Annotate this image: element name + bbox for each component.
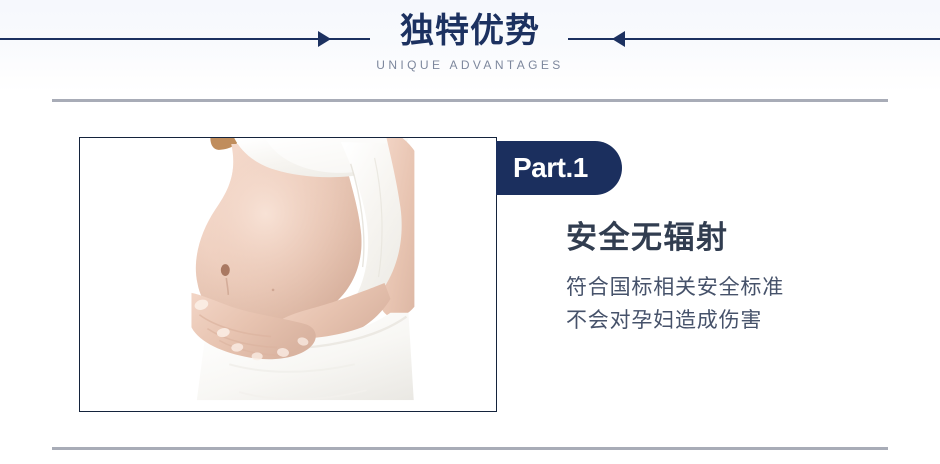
section-divider-top — [52, 99, 888, 102]
page-subtitle: UNIQUE ADVANTAGES — [0, 57, 940, 73]
page-title: 独特优势 — [0, 10, 940, 52]
feature-heading: 安全无辐射 — [566, 218, 906, 258]
section-heading-group: 独特优势 UNIQUE ADVANTAGES — [0, 10, 940, 73]
feature-description-line: 不会对孕妇造成伤害 — [566, 304, 906, 337]
feature-description-line: 符合国标相关安全标准 — [566, 271, 906, 304]
pregnant-woman-photo — [80, 138, 496, 411]
feature-copy-block: 安全无辐射 符合国标相关安全标准 不会对孕妇造成伤害 — [566, 218, 906, 337]
part-number-badge: Part.1 — [496, 141, 622, 195]
advantage-section: 独特优势 UNIQUE ADVANTAGES — [0, 0, 940, 464]
section-divider-bottom — [52, 447, 888, 450]
part-number-label: Part.1 — [496, 153, 588, 183]
product-photo-frame — [79, 137, 497, 412]
feature-description-list: 符合国标相关安全标准 不会对孕妇造成伤害 — [566, 271, 906, 337]
